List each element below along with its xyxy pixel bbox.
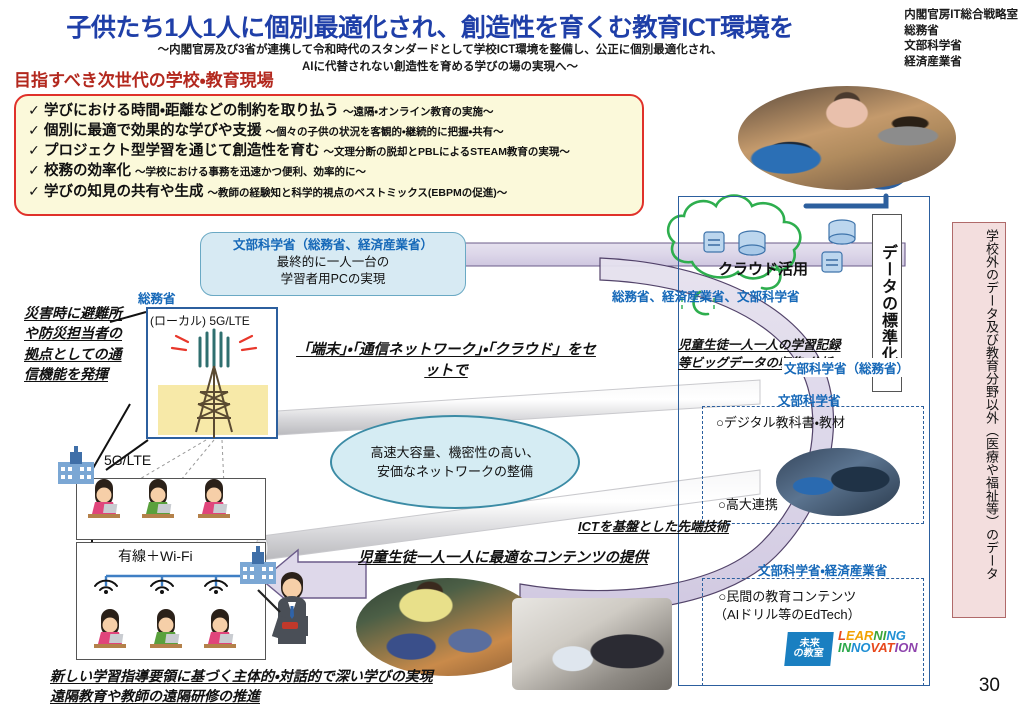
note-new-curriculum: 新しい学習指導要領に基づく主体的・対話的で深い学びの実現 bbox=[50, 666, 433, 686]
credit-cabinet-it: 内閣官房IT総合戦略室 bbox=[904, 8, 1018, 24]
item-digital-textbook: ○デジタル教科書・教材 bbox=[716, 412, 845, 431]
photo-student-desk-tablet bbox=[512, 598, 672, 690]
check-icon: ✓ bbox=[24, 183, 44, 201]
ministry-credits: 内閣官房IT総合戦略室 総務省 文部科学省 経済産業省 bbox=[904, 8, 1018, 70]
note-optimal-contents: 児童生徒一人一人に最適なコンテンツの提供 bbox=[358, 548, 648, 569]
page-title: 子供たち1人1人に個別最適化され、創造性を育くむ教育ICT環境を bbox=[0, 8, 860, 44]
outside-school-data-label: 学校外のデータ及び教育分野以外（医療や福祉等）のデータ bbox=[982, 229, 1002, 580]
goal-item: ✓ 学びの知見の共有や生成 ～教師の経験知と科学的視点のベストミックス(EBPM… bbox=[24, 183, 634, 201]
check-icon: ✓ bbox=[24, 162, 44, 180]
outside-school-data-box: 学校外のデータ及び教育分野以外（医療や福祉等）のデータ bbox=[952, 222, 1006, 618]
goal-sub-text: ～遠隔・オンライン教育の実施～ bbox=[343, 106, 494, 119]
credit-soumu: 総務省 bbox=[904, 24, 1018, 40]
credit-meti: 経済産業省 bbox=[904, 55, 1018, 71]
ministry-label-moe-meti: 文部科学省・経済産業省 bbox=[758, 560, 887, 579]
goal-main-text: プロジェクト型学習を通じて創造性を育む bbox=[44, 142, 320, 160]
label-wired-wifi: 有線＋Wi-Fi bbox=[118, 546, 193, 566]
credit-mext: 文部科学省 bbox=[904, 39, 1018, 55]
check-icon: ✓ bbox=[24, 122, 44, 140]
callout-ministry-label: 文部科学省（総務省、経済産業省） bbox=[201, 237, 465, 254]
goal-main-text: 校務の効率化 bbox=[44, 162, 131, 180]
data-standardization-label: データの標準化 bbox=[875, 244, 899, 363]
goal-item: ✓ プロジェクト型学習を通じて創造性を育む ～文理分断の脱却とPBLによるSTE… bbox=[24, 142, 634, 160]
goal-item: ✓ 校務の効率化 ～学校における事務を迅速かつ便利、効率的に～ bbox=[24, 162, 634, 180]
ellipse-line-1: 高速大容量、機密性の高い、 bbox=[370, 443, 539, 463]
ministry-label-moe-soumu: 文部科学省（総務省） bbox=[782, 358, 911, 377]
contents-delivery-arrow bbox=[262, 550, 366, 610]
goal-main-text: 学びにおける時間・距離などの制約を取り払う bbox=[44, 102, 339, 120]
goal-main-text: 個別に最適で効果的な学びや支援 bbox=[44, 122, 262, 140]
goal-sub-text: ～学校における事務を迅速かつ便利、効率的に～ bbox=[135, 166, 366, 179]
ellipse-line-2: 安価なネットワークの整備 bbox=[370, 462, 539, 482]
local-5g-caption: (ローカル) 5G/LTE bbox=[150, 312, 250, 329]
note-three-elements-set: 「端末」・「通信ネットワーク」・「クラウド」をセットで bbox=[296, 340, 596, 382]
check-icon: ✓ bbox=[24, 142, 44, 160]
callout-line-1: 最終的に一人一台の bbox=[201, 254, 465, 271]
goal-sub-text: ～個々の子供の状況を客観的・継続的に把握・共有～ bbox=[266, 126, 504, 139]
goals-panel: ✓ 学びにおける時間・距離などの制約を取り払う ～遠隔・オンライン教育の実施～ … bbox=[14, 94, 644, 216]
one-pc-per-student-callout: 文部科学省（総務省、経済産業省） 最終的に一人一台の 学習者用PCの実現 bbox=[200, 232, 466, 296]
ministry-label-moe: 文部科学省 bbox=[778, 390, 841, 409]
item-private-contents: ○民間の教育コンテンツ （AIドリル等のEdTech） bbox=[714, 588, 861, 624]
cloud-usage-label: クラウド活用 bbox=[718, 258, 808, 279]
private-contents-line-1: ○民間の教育コンテンツ bbox=[714, 588, 861, 606]
page-number: 30 bbox=[979, 675, 1000, 697]
goal-main-text: 学びの知見の共有や生成 bbox=[44, 183, 204, 201]
check-icon: ✓ bbox=[24, 102, 44, 120]
ministry-label-cloud: 総務省、経済産業省、文部科学省 bbox=[612, 286, 800, 305]
item-koudai-renkei: ○高大連携 bbox=[718, 494, 778, 513]
ministry-label-tower: 総務省 bbox=[138, 288, 176, 307]
goal-sub-text: ～文理分断の脱却とPBLによるSTEAM教育の実現～ bbox=[324, 146, 570, 159]
goal-sub-text: ～教師の経験知と科学的視点のベストミックス(EBPMの促進)～ bbox=[208, 187, 508, 200]
note-disaster-communication: 災害時に避難所や防災担当者の拠点としての通信機能を発揮 bbox=[24, 303, 134, 384]
photo-student-tablet-closeup bbox=[776, 448, 900, 516]
label-5g-lte: 5G/LTE bbox=[104, 452, 151, 468]
goal-item: ✓ 個別に最適で効果的な学びや支援 ～個々の子供の状況を客観的・継続的に把握・共… bbox=[24, 122, 634, 140]
section-heading: 目指すべき次世代の学校・教育現場 bbox=[14, 66, 274, 91]
network-quality-ellipse: 高速大容量、機密性の高い、 安価なネットワークの整備 bbox=[330, 415, 580, 509]
goal-item: ✓ 学びにおける時間・距離などの制約を取り払う ～遠隔・オンライン教育の実施～ bbox=[24, 102, 634, 120]
note-remote-education: 遠隔教育や教師の遠隔研修の推進 bbox=[50, 686, 260, 706]
callout-line-2: 学習者用PCの実現 bbox=[201, 271, 465, 288]
photo-students-tablets bbox=[738, 86, 956, 190]
subtitle-line-1: ～内閣官房及び3省が連携して令和時代のスタンダードとして学校ICT環境を整備し、… bbox=[130, 42, 750, 59]
private-contents-line-2: （AIドリル等のEdTech） bbox=[714, 606, 861, 624]
note-ict-advanced-tech: ICTを基盤とした先端技術 bbox=[578, 518, 729, 537]
classroom-box-5g bbox=[76, 478, 266, 540]
ellipse-text: 高速大容量、機密性の高い、 安価なネットワークの整備 bbox=[370, 443, 539, 482]
